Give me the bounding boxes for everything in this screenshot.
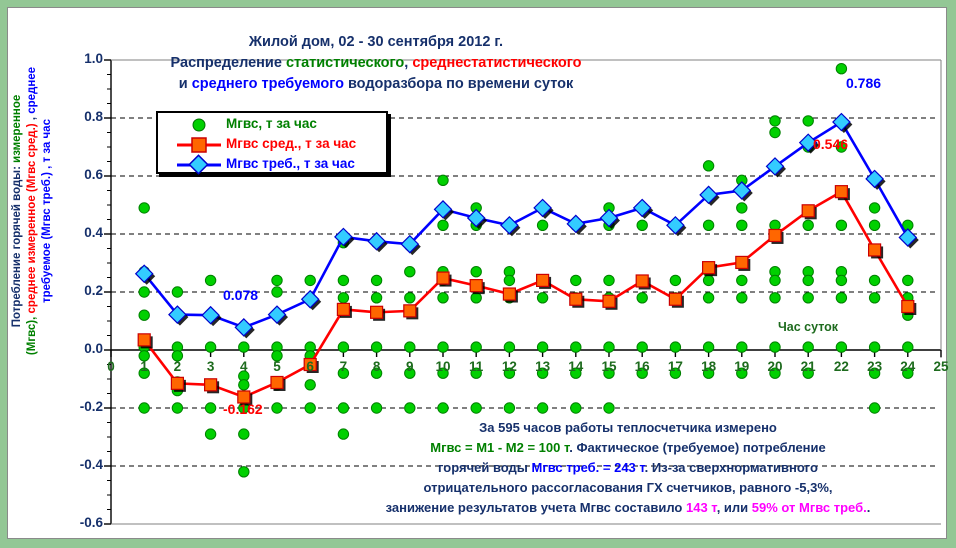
scatter-point (869, 275, 879, 285)
series-marker (503, 288, 515, 300)
scatter-point (139, 403, 149, 413)
y-tick-label: 0.6 (59, 167, 103, 182)
scatter-point (471, 293, 481, 303)
scatter-point (737, 293, 747, 303)
legend-marker-diamond-icon (176, 154, 222, 175)
scatter-point (438, 403, 448, 413)
scatter-point (869, 403, 879, 413)
title-line-1: Жилой дом, 02 - 30 сентября 2012 г. (111, 32, 641, 53)
callout-value: 0.786 (846, 75, 881, 91)
x-tick-label: 9 (398, 359, 422, 374)
callout-value: 0.546 (813, 136, 848, 152)
scatter-point (737, 203, 747, 213)
legend-item-mgvs[interactable]: Мгвс, т за час (158, 114, 390, 135)
scatter-point (139, 203, 149, 213)
x-tick-label: 21 (796, 359, 820, 374)
scatter-point (604, 342, 614, 352)
legend-item-mgvs-sred[interactable]: Мгвс сред., т за час (158, 134, 390, 155)
scatter-point (172, 287, 182, 297)
scatter-point (703, 342, 713, 352)
chart-title: Жилой дом, 02 - 30 сентября 2012 г. Расп… (111, 32, 641, 95)
series-marker (869, 244, 881, 256)
scatter-point (405, 342, 415, 352)
y-tick-label: 0.0 (59, 341, 103, 356)
scatter-point (637, 220, 647, 230)
scatter-point (637, 293, 647, 303)
series-marker (271, 376, 283, 388)
scatter-point (371, 403, 381, 413)
scatter-point (305, 380, 315, 390)
x-tick-label: 13 (531, 359, 555, 374)
x-tick-label: 1 (132, 359, 156, 374)
series-marker (835, 186, 847, 198)
scatter-point (272, 287, 282, 297)
scatter-point (903, 275, 913, 285)
y-tick-label: 0.8 (59, 109, 103, 124)
x-tick-label: 7 (331, 359, 355, 374)
scatter-point (836, 275, 846, 285)
series-marker (537, 274, 549, 286)
scatter-point (803, 275, 813, 285)
scatter-point (438, 220, 448, 230)
scatter-point (537, 293, 547, 303)
scatter-point (504, 403, 514, 413)
x-tick-label: 16 (630, 359, 654, 374)
scatter-point (803, 116, 813, 126)
series-marker (138, 334, 150, 346)
x-tick-label: 12 (497, 359, 521, 374)
x-tick-label: 11 (464, 359, 488, 374)
scatter-point (703, 293, 713, 303)
scatter-point (205, 403, 215, 413)
chart-legend: Мгвс, т за час Мгвс сред., т за час Мгвс… (156, 111, 388, 174)
x-tick-label: 19 (730, 359, 754, 374)
scatter-point (537, 403, 547, 413)
series-marker (802, 205, 814, 217)
scatter-point (471, 342, 481, 352)
note-line-1: За 595 часов работы теплосчетчика измере… (313, 418, 943, 438)
x-axis-title: Час суток (778, 320, 838, 334)
y-tick-label: -0.4 (59, 457, 103, 472)
scatter-point (205, 342, 215, 352)
y-tick-label: -0.6 (59, 515, 103, 530)
scatter-point (537, 220, 547, 230)
scatter-point (703, 220, 713, 230)
x-tick-label: 4 (232, 359, 256, 374)
scatter-point (405, 267, 415, 277)
scatter-point (305, 403, 315, 413)
footnote-text: За 595 часов работы теплосчетчика измере… (313, 418, 943, 518)
scatter-point (571, 403, 581, 413)
x-tick-label: 6 (298, 359, 322, 374)
title-line-2: Распределение статистического, среднеста… (111, 53, 641, 74)
scatter-point (571, 342, 581, 352)
y-tick-label: 0.2 (59, 283, 103, 298)
callout-value: -0.162 (223, 401, 263, 417)
x-tick-label: 15 (597, 359, 621, 374)
scatter-point (836, 293, 846, 303)
y-tick-label: -0.2 (59, 399, 103, 414)
x-tick-label: 17 (663, 359, 687, 374)
scatter-point (770, 275, 780, 285)
note-line-5: занижение результатов учета Мгвс состави… (313, 498, 943, 518)
series-marker (669, 293, 681, 305)
scatter-point (405, 293, 415, 303)
x-tick-label: 2 (165, 359, 189, 374)
scatter-point (471, 403, 481, 413)
series-marker (470, 280, 482, 292)
scatter-point (504, 275, 514, 285)
scatter-point (703, 275, 713, 285)
scatter-point (770, 127, 780, 137)
scatter-point (703, 161, 713, 171)
scatter-point (737, 275, 747, 285)
scatter-point (770, 293, 780, 303)
x-tick-label: 23 (863, 359, 887, 374)
scatter-point (803, 342, 813, 352)
series-marker (404, 305, 416, 317)
series-marker (337, 303, 349, 315)
x-tick-label: 25 (929, 359, 953, 374)
scatter-point (205, 275, 215, 285)
series-marker (205, 379, 217, 391)
scatter-point (737, 220, 747, 230)
scatter-point (803, 220, 813, 230)
legend-label-0: Мгвс, т за час (226, 116, 317, 131)
x-tick-label: 10 (431, 359, 455, 374)
scatter-point (272, 275, 282, 285)
series-marker (736, 256, 748, 268)
scatter-point (869, 293, 879, 303)
x-tick-label: 8 (365, 359, 389, 374)
scatter-point (869, 203, 879, 213)
scatter-point (836, 64, 846, 74)
scatter-point (504, 342, 514, 352)
series-marker (570, 293, 582, 305)
legend-item-mgvs-treb[interactable]: Мгвс треб., т за час (158, 154, 390, 175)
scatter-point (139, 310, 149, 320)
series-marker (902, 301, 914, 313)
scatter-point (571, 275, 581, 285)
x-tick-label: 14 (564, 359, 588, 374)
scatter-point (338, 403, 348, 413)
scatter-point (438, 293, 448, 303)
scatter-point (670, 342, 680, 352)
scatter-point (869, 342, 879, 352)
x-tick-label: 3 (199, 359, 223, 374)
scatter-point (139, 287, 149, 297)
scatter-point (239, 467, 249, 477)
callout-value: 0.078 (223, 287, 258, 303)
scatter-point (338, 275, 348, 285)
scatter-point (637, 342, 647, 352)
series-marker (603, 295, 615, 307)
x-tick-label: 5 (265, 359, 289, 374)
scatter-point (903, 342, 913, 352)
x-tick-label: 24 (896, 359, 920, 374)
x-tick-label: 0 (99, 359, 123, 374)
x-tick-label: 22 (829, 359, 853, 374)
scatter-point (239, 380, 249, 390)
scatter-point (371, 342, 381, 352)
scatter-point (869, 220, 879, 230)
scatter-point (272, 403, 282, 413)
scatter-point (803, 293, 813, 303)
scatter-point (604, 275, 614, 285)
scatter-point (770, 116, 780, 126)
legend-label-2: Мгвс треб., т за час (226, 156, 355, 171)
chart-frame: Жилой дом, 02 - 30 сентября 2012 г. Расп… (7, 7, 947, 539)
scatter-point (205, 429, 215, 439)
scatter-point (338, 293, 348, 303)
series-marker (371, 306, 383, 318)
series-marker (636, 275, 648, 287)
scatter-point (338, 342, 348, 352)
series-line-0 (144, 192, 908, 397)
series-marker (769, 229, 781, 241)
x-tick-label: 20 (763, 359, 787, 374)
scatter-point (371, 275, 381, 285)
series-marker (437, 272, 449, 284)
title-line-3: и среднего требуемого водоразбора по вре… (111, 74, 641, 95)
scatter-point (172, 403, 182, 413)
legend-marker-square-icon (176, 134, 222, 155)
scatter-point (371, 293, 381, 303)
note-line-4: отрицательного рассогласования ГХ счетчи… (313, 478, 943, 498)
scatter-point (239, 342, 249, 352)
note-line-3: горячей воды Мгвс треб. = 243 т. Из-за с… (313, 458, 943, 478)
scatter-point (604, 403, 614, 413)
note-line-2: Мгвс = М1 - М2 = 100 т. Фактическое (тре… (313, 438, 943, 458)
scatter-point (770, 342, 780, 352)
scatter-point (305, 275, 315, 285)
scatter-point (737, 342, 747, 352)
x-tick-label: 18 (697, 359, 721, 374)
scatter-point (438, 175, 448, 185)
y-axis-title: Потребление горячей воды: измеренное (Мг… (10, 46, 44, 376)
legend-marker-circle-icon (176, 114, 222, 135)
legend-label-1: Мгвс сред., т за час (226, 136, 356, 151)
series-marker (703, 262, 715, 274)
scatter-point (405, 403, 415, 413)
scatter-point (670, 275, 680, 285)
scatter-point (438, 342, 448, 352)
scatter-point (239, 429, 249, 439)
scatter-point (836, 342, 846, 352)
scatter-point (471, 267, 481, 277)
y-tick-label: 0.4 (59, 225, 103, 240)
series-marker (171, 377, 183, 389)
scatter-point (836, 220, 846, 230)
scatter-point (537, 342, 547, 352)
y-tick-label: 1.0 (59, 51, 103, 66)
